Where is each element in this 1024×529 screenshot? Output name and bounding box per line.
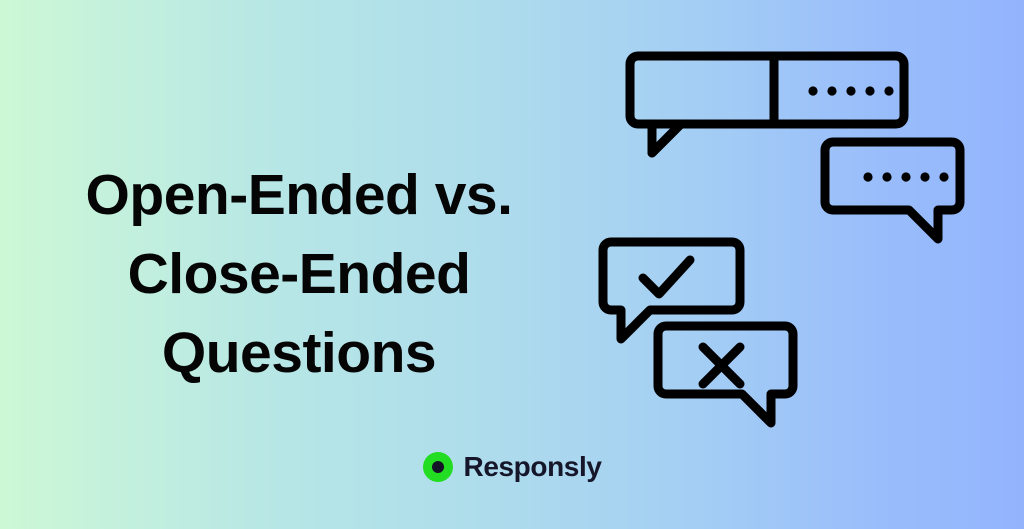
speech-bubbles-illustration bbox=[560, 20, 1000, 450]
ellipsis-dots-bottom bbox=[863, 172, 948, 181]
cross-glyph-icon bbox=[703, 347, 740, 384]
page-title-line-1: Open-Ended vs. bbox=[14, 156, 584, 235]
page-title: Open-Ended vs. Close-Ended Questions bbox=[14, 156, 584, 393]
brand-logo[interactable]: Responsly bbox=[0, 452, 1024, 482]
logo-mark-center bbox=[432, 461, 444, 473]
promo-banner: Open-Ended vs. Close-Ended Questions bbox=[0, 0, 1024, 529]
page-title-line-3: Questions bbox=[14, 314, 584, 393]
ellipsis-dots-top bbox=[808, 86, 893, 95]
brand-wordmark: Responsly bbox=[464, 453, 602, 481]
page-title-line-2: Close-Ended bbox=[14, 235, 584, 314]
check-glyph-icon bbox=[643, 260, 690, 294]
bubble-dots-bottom-icon bbox=[825, 142, 960, 239]
green-dot-icon bbox=[423, 452, 453, 482]
